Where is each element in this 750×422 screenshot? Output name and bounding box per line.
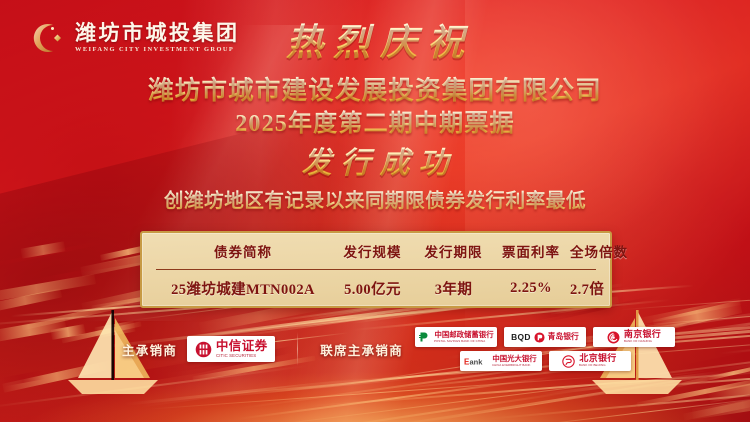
section-divider xyxy=(297,332,298,366)
light-ray xyxy=(419,386,652,422)
beijing-bank-icon xyxy=(562,355,575,368)
chip-name-cn: 南京银行 xyxy=(624,330,661,339)
celebration-poster: 潍坊市城投集团 WEIFANG CITY INVESTMENT GROUP 热烈… xyxy=(0,0,750,422)
logo-citic-securities: 中信证券 CITIC SECURITIES xyxy=(187,336,275,362)
logo-postal-savings-bank: 中国邮政储蓄银行 POSTAL SAVINGS BANK OF CHINA xyxy=(415,327,497,347)
light-ray xyxy=(510,394,750,422)
light-ray xyxy=(147,375,613,410)
light-ray xyxy=(619,284,750,310)
chip-name-cn: 中国邮政储蓄银行 xyxy=(434,331,493,338)
chip-name-cn: 北京银行 xyxy=(579,354,616,363)
ribbon-shard xyxy=(684,389,730,407)
ribbon-shard xyxy=(0,241,101,268)
headline-success: 发行成功 xyxy=(0,146,750,181)
cell-subscription-multiple: 2.7倍 xyxy=(570,278,604,299)
headline-company: 潍坊市城市建设发展投资集团有限公司 xyxy=(0,75,750,106)
logo-bank-of-nanjing: 南京银行 BANK OF NANJING xyxy=(593,327,675,347)
cell-coupon-rate: 2.25% xyxy=(492,280,570,297)
lead-underwriter-label: 主承销商 xyxy=(122,340,177,359)
headline-block: 热烈庆祝 潍坊市城市建设发展投资集团有限公司 2025年度第二期中期票据 发行成… xyxy=(0,22,750,214)
bond-details-table: 债券简称 发行规模 发行期限 票面利率 全场倍数 25潍坊城建MTN002A 5… xyxy=(140,231,612,308)
light-ray xyxy=(124,377,369,405)
ribbon-shard xyxy=(637,375,750,407)
ribbon-shard xyxy=(36,268,98,286)
chip-name-en: POSTAL SAVINGS BANK OF CHINA xyxy=(434,340,485,343)
headline-issue: 2025年度第二期中期票据 xyxy=(0,110,750,139)
logo-bank-of-beijing: 北京银行 BANK OF BEIJING xyxy=(549,351,631,371)
column-header-coupon-rate: 票面利率 xyxy=(492,241,570,261)
chip-name-en: BANK OF BEIJING xyxy=(579,364,606,367)
chip-name-en: BQD xyxy=(511,333,531,341)
chip-name-cn: 中信证券 xyxy=(216,340,268,353)
cell-issue-size: 5.00亿元 xyxy=(330,278,415,299)
ribbon-shard xyxy=(691,393,750,419)
ribbon-shard xyxy=(21,241,66,258)
joint-underwriter-label: 联席主承销商 xyxy=(320,340,403,359)
logo-bank-of-qingdao: BQD 青岛银行 xyxy=(504,327,586,347)
ribbon-shard xyxy=(0,288,61,312)
joint-underwriter-logos: 中国邮政储蓄银行 POSTAL SAVINGS BANK OF CHINA BQ… xyxy=(415,327,675,371)
psbc-icon xyxy=(418,331,430,343)
column-header-issue-size: 发行规模 xyxy=(330,241,415,261)
chip-name-en: CHINA EVERBRIGHT BANK xyxy=(492,364,531,367)
everbright-icon: E ank xyxy=(464,356,488,367)
bqd-icon xyxy=(534,332,545,343)
nanjing-rose-icon xyxy=(607,331,620,344)
table-row: 25潍坊城建MTN002A 5.00亿元 3年期 2.25% 2.7倍 xyxy=(156,270,596,306)
svg-text:ank: ank xyxy=(470,357,484,366)
headline-celebrate: 热烈庆祝 xyxy=(0,22,750,66)
column-header-term: 发行期限 xyxy=(415,241,492,261)
headline-subtitle: 创潍坊地区有记录以来同期限债券发行利率最低 xyxy=(0,190,750,213)
ribbon-shard xyxy=(683,399,750,421)
citic-seal-icon xyxy=(195,341,212,358)
underwriters-strip: 主承销商 中信证券 CITIC SECURITIES 联席主承销商 xyxy=(0,318,750,380)
column-header-subscription-multiple: 全场倍数 xyxy=(570,241,628,261)
ribbon-shard xyxy=(0,274,97,304)
chip-name-cn: 中国光大银行 xyxy=(492,355,536,362)
chip-name-en: CITIC SECURITIES xyxy=(216,354,256,359)
cell-term: 3年期 xyxy=(415,278,492,299)
light-ray xyxy=(237,376,555,419)
light-ray xyxy=(487,382,750,420)
light-ray xyxy=(314,391,572,422)
chip-name-en: BANK OF NANJING xyxy=(624,340,652,343)
logo-china-everbright-bank: E ank 中国光大银行 CHINA EVERBRIGHT BANK xyxy=(460,351,542,371)
chip-name-cn: 青岛银行 xyxy=(548,333,579,341)
column-header-bond-name: 债券简称 xyxy=(156,241,330,261)
table-header-row: 债券简称 发行规模 发行期限 票面利率 全场倍数 xyxy=(156,233,596,270)
cell-bond-name: 25潍坊城建MTN002A xyxy=(156,278,330,299)
